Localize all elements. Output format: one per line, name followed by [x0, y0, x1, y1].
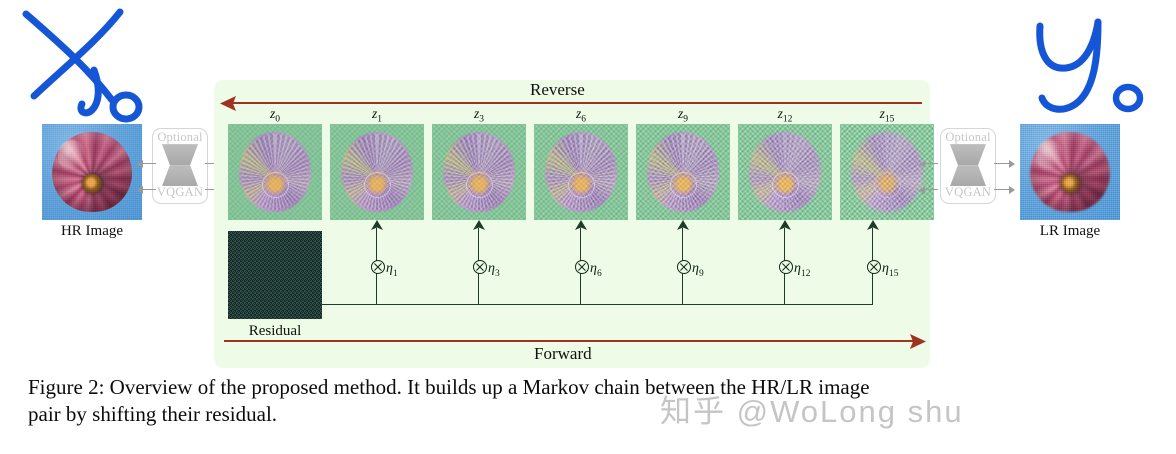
right-vqgan-module: Optional VQGAN [940, 128, 996, 204]
figure-caption: Figure 2: Overview of the proposed metho… [28, 374, 1158, 429]
riser-arrow-head-2 [472, 220, 486, 231]
riser-arrow-head-6 [866, 220, 880, 231]
figure-caption-line-1: Figure 2: Overview of the proposed metho… [28, 374, 1158, 401]
tile-noise [228, 124, 322, 220]
handwritten-x0-annotation [8, 4, 168, 124]
residual-label: Residual [228, 323, 322, 340]
hr-image-block: HR Image [42, 124, 142, 240]
forward-arrow-head [910, 333, 926, 350]
multiply-node-4 [677, 260, 691, 274]
hr-image-photo [42, 124, 142, 220]
handwritten-y0-annotation [1032, 10, 1167, 125]
tile-noise [432, 124, 526, 220]
left-vqgan-decoder-shape [153, 165, 207, 186]
multiply-node-3 [575, 260, 589, 274]
latent-tile-5 [738, 124, 832, 220]
eta-label-1-base: η [386, 261, 393, 276]
forward-arrow-line [224, 340, 914, 342]
riser-arrow-head-4 [676, 220, 690, 231]
z-label-4: z9 [636, 106, 730, 125]
eta-label-3: η6 [590, 261, 602, 279]
residual-image [228, 231, 322, 319]
eta-label-3-sub: 6 [597, 269, 602, 279]
eta-label-4: η9 [692, 261, 704, 279]
latent-tile-1 [330, 124, 424, 220]
eta-label-6-sub: 15 [889, 269, 899, 279]
residual-noise [228, 231, 322, 319]
z-label-1: z1 [330, 106, 424, 125]
z-label-3: z6 [534, 106, 628, 125]
multiply-node-2 [473, 260, 487, 274]
eta-label-4-base: η [692, 261, 699, 276]
tile-noise [840, 124, 934, 220]
eta-label-1-sub: 1 [393, 269, 398, 279]
latent-tile-0 [228, 124, 322, 220]
z-label-0: z0 [228, 106, 322, 125]
photo-grain [1020, 124, 1120, 220]
z-label-2: z3 [432, 106, 526, 125]
reverse-arrow-line [232, 102, 922, 104]
right-vqgan-encoder-shape [941, 144, 995, 165]
eta-label-2-sub: 3 [495, 269, 500, 279]
riser-arrow-head-3 [574, 220, 588, 231]
tile-noise [636, 124, 730, 220]
photo-grain [42, 124, 142, 220]
z-label-6: z15 [840, 106, 934, 125]
hr-image-label: HR Image [42, 223, 142, 240]
lr-image-label: LR Image [1020, 223, 1120, 240]
tile-noise [738, 124, 832, 220]
riser-arrow-head-5 [778, 220, 792, 231]
latent-tile-3 [534, 124, 628, 220]
left-vqgan-inbound-arrow-2 [138, 189, 156, 190]
left-vqgan-inbound-arrow [138, 163, 156, 164]
residual-bus-line [322, 304, 873, 305]
riser-arrow-head-1 [370, 220, 384, 231]
lr-image-block: LR Image [1020, 124, 1120, 240]
latent-tile-6 [840, 124, 934, 220]
forward-label: Forward [534, 344, 592, 364]
eta-label-5-base: η [794, 261, 801, 276]
right-vqgan-inbound-arrow [920, 163, 938, 164]
right-vqgan-decoder-shape [941, 165, 995, 186]
right-vqgan-outbound-arrow-2 [994, 189, 1014, 190]
left-vqgan-optional-label: Optional [153, 131, 207, 144]
tile-noise [534, 124, 628, 220]
latent-tile-4 [636, 124, 730, 220]
eta-label-2-base: η [488, 261, 495, 276]
eta-label-6: η15 [882, 261, 898, 279]
eta-label-6-base: η [882, 261, 889, 276]
eta-label-5-sub: 12 [801, 269, 811, 279]
right-vqgan-optional-label: Optional [941, 131, 995, 144]
figure-caption-line-2: pair by shifting their residual. [28, 401, 1158, 428]
right-vqgan-outbound-arrow [994, 163, 1014, 164]
z-label-5: z12 [738, 106, 832, 125]
lr-image-photo [1020, 124, 1120, 220]
multiply-node-6 [867, 260, 881, 274]
eta-label-5: η12 [794, 261, 810, 279]
multiply-node-1 [371, 260, 385, 274]
tile-noise [330, 124, 424, 220]
eta-label-1: η1 [386, 261, 398, 279]
multiply-node-5 [779, 260, 793, 274]
eta-label-2: η3 [488, 261, 500, 279]
left-vqgan-name-label: VQGAN [153, 186, 207, 199]
left-vqgan-encoder-shape [153, 144, 207, 165]
right-vqgan-inbound-arrow-2 [920, 189, 938, 190]
reverse-label: Reverse [530, 80, 585, 100]
eta-label-4-sub: 9 [699, 269, 704, 279]
latent-tile-2 [432, 124, 526, 220]
right-vqgan-name-label: VQGAN [941, 186, 995, 199]
eta-label-3-base: η [590, 261, 597, 276]
left-vqgan-module: Optional VQGAN [152, 128, 208, 204]
